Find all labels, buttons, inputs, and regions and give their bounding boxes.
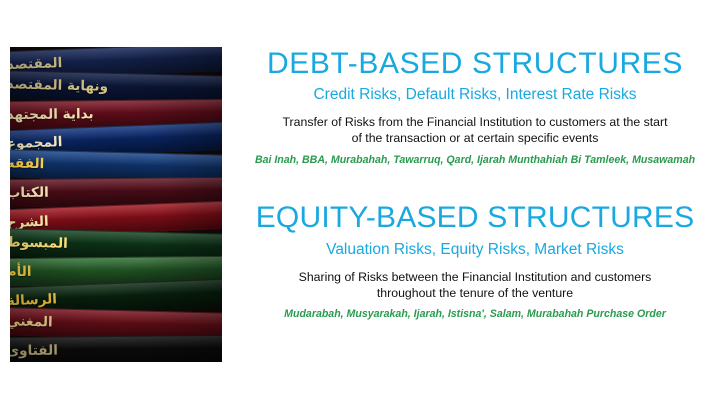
book-spine: الفتاوى (10, 334, 222, 362)
equity-subheading: Valuation Risks, Equity Risks, Market Ri… (240, 241, 710, 259)
book-spine-label: الفتاوى (10, 342, 58, 359)
debt-description-line-1: Transfer of Risks from the Financial Ins… (283, 115, 668, 129)
book-spine-label: الفقه (10, 155, 44, 172)
debt-heading: DEBT-BASED STRUCTURES (240, 48, 710, 80)
book-spine-label: ونهاية المقتصد (10, 77, 108, 95)
equity-heading: EQUITY-BASED STRUCTURES (240, 202, 710, 234)
slide-canvas: المقتصدونهاية المقتصدبداية المجتهدالمجمو… (0, 0, 720, 405)
equity-description-line-1: Sharing of Risks between the Financial I… (299, 270, 652, 284)
text-column: DEBT-BASED STRUCTURES Credit Risks, Defa… (240, 48, 710, 360)
debt-subheading: Credit Risks, Default Risks, Interest Ra… (240, 86, 710, 104)
equity-description-line-2: throughout the tenure of the venture (377, 286, 573, 300)
book-spine-label: المغني (10, 313, 53, 330)
book-stack-layers: المقتصدونهاية المقتصدبداية المجتهدالمجمو… (10, 47, 222, 362)
book-spine-label: المبسوط (10, 234, 68, 251)
book-spine-label: الكتاب (10, 185, 49, 201)
book-gloss (10, 256, 222, 271)
book-spine-label: بداية المجتهد (10, 106, 94, 123)
book-spine-label: الأم (10, 264, 31, 280)
debt-based-block: DEBT-BASED STRUCTURES Credit Risks, Defa… (240, 48, 710, 166)
debt-description: Transfer of Risks from the Financial Ins… (240, 114, 710, 146)
debt-description-line-2: of the transaction or at certain specifi… (352, 131, 599, 145)
book-stack-image: المقتصدونهاية المقتصدبداية المجتهدالمجمو… (10, 47, 222, 362)
equity-based-block: EQUITY-BASED STRUCTURES Valuation Risks,… (240, 202, 710, 320)
equity-description: Sharing of Risks between the Financial I… (240, 269, 710, 301)
debt-contract-list: Bai Inah, BBA, Murabahah, Tawarruq, Qard… (240, 154, 710, 167)
equity-contract-list: Mudarabah, Musyarakah, Ijarah, Istisna',… (240, 308, 710, 321)
